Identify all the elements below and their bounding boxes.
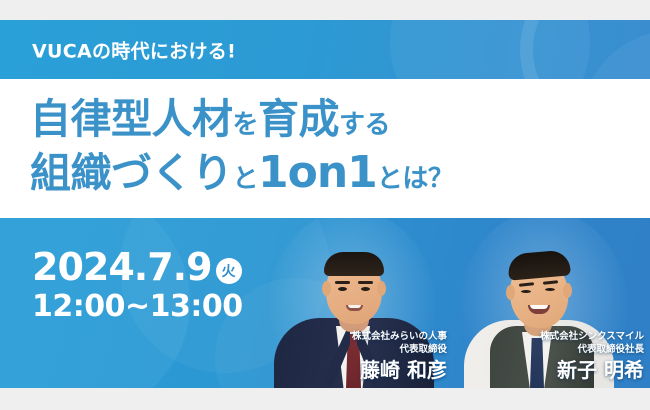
hair xyxy=(324,252,384,276)
day-of-week-badge: 火 xyxy=(216,258,242,284)
ear-left xyxy=(322,281,331,296)
speaker-company: 株式会社シンクスマイル xyxy=(540,331,644,344)
event-date: 2024.7.9 xyxy=(32,248,212,286)
event-date-row: 2024.7.9 火 xyxy=(32,248,243,286)
event-time: 12:00~13:00 xyxy=(32,292,243,322)
decorative-circle-icon xyxy=(390,20,590,79)
kicker-text: VUCAの時代における! xyxy=(32,36,236,63)
title-segment: とは？ xyxy=(377,164,454,194)
speaker-role: 代表取締役 xyxy=(352,344,447,357)
speaker-card-2: 株式会社シンクスマイル 代表取締役社長 新子 明希 xyxy=(450,218,650,388)
kicker-bar: VUCAの時代における! xyxy=(0,20,650,79)
title-line-1: 自律型人材を育成する xyxy=(30,99,390,140)
title-segment: 自律型人材 xyxy=(30,95,233,143)
ear-left xyxy=(506,285,515,300)
title-segment: 育成 xyxy=(258,95,339,143)
eye-left xyxy=(338,287,347,291)
speaker-name: 新子 明希 xyxy=(540,358,644,382)
ear-right xyxy=(563,283,572,298)
title-block: 自律型人材を育成する 組織づくりと1on1とは？ xyxy=(0,79,650,218)
eyebrow-right xyxy=(358,281,373,284)
eye-left xyxy=(521,290,531,293)
title-segment: と xyxy=(233,164,259,194)
teeth xyxy=(530,305,548,309)
webinar-banner: VUCAの時代における! 自律型人材を育成する 組織づくりと1on1とは？ 20… xyxy=(0,20,650,388)
eyebrow-left xyxy=(335,281,350,284)
ear-right xyxy=(377,281,386,296)
title-segment: 組織づくり xyxy=(30,149,233,197)
title-segment: する xyxy=(339,110,390,140)
decorative-circle-icon xyxy=(580,30,650,79)
speaker-caption-1: 株式会社みらいの人事 代表取締役 藤崎 和彦 xyxy=(352,331,447,382)
speaker-role: 代表取締役社長 xyxy=(540,344,644,357)
eye-right xyxy=(361,287,370,291)
eye-right xyxy=(545,288,555,291)
speaker-caption-2: 株式会社シンクスマイル 代表取締役社長 新子 明希 xyxy=(540,331,644,382)
speaker-card-1: 株式会社みらいの人事 代表取締役 藤崎 和彦 xyxy=(250,218,455,388)
title-line-2: 組織づくりと1on1とは？ xyxy=(30,151,453,195)
decorative-ring-icon xyxy=(520,20,650,79)
teeth xyxy=(348,305,361,308)
speaker-company: 株式会社みらいの人事 xyxy=(352,331,447,344)
speaker-name: 藤崎 和彦 xyxy=(352,358,447,382)
event-datetime: 2024.7.9 火 12:00~13:00 xyxy=(32,248,243,322)
title-segment-1on1: 1on1 xyxy=(258,147,377,198)
event-details-panel: 2024.7.9 火 12:00~13:00 xyxy=(0,218,650,388)
title-segment: を xyxy=(233,110,259,140)
